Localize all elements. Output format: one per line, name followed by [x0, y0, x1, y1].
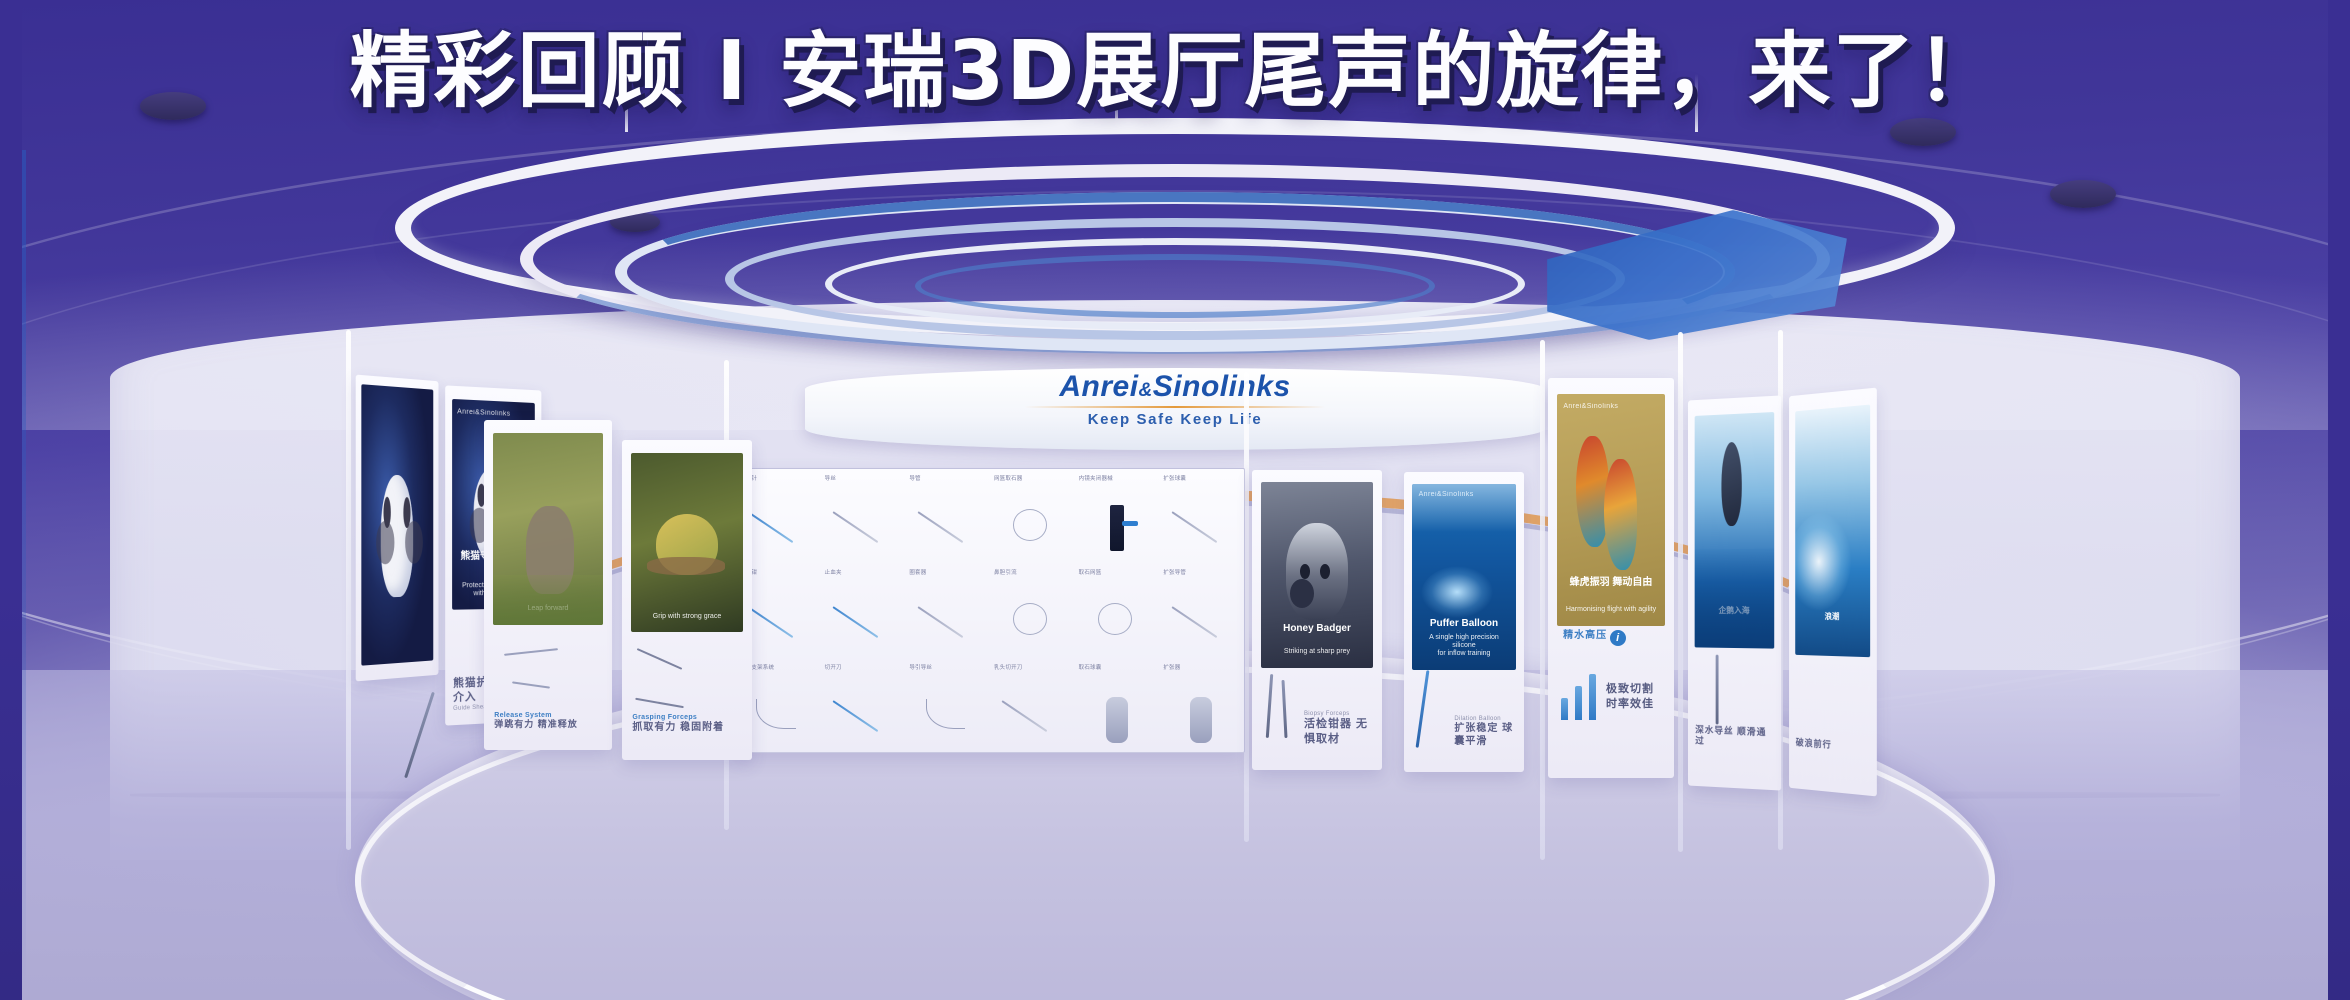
product-label: 扩张器	[1163, 663, 1240, 671]
poster-subtitle: A single high precision silicone for inf…	[1421, 634, 1508, 659]
brand-name-left: Anrei	[1059, 370, 1138, 403]
structural-post	[1678, 332, 1683, 852]
product-label: 止血夹	[825, 568, 902, 576]
product-grid-cell[interactable]: 网篮取石器	[990, 469, 1075, 563]
product-grid-cell[interactable]: 扩张球囊	[1159, 469, 1244, 563]
product-shape-icon	[744, 688, 810, 743]
brand-divider	[1025, 406, 1325, 408]
product-shape-icon	[998, 499, 1064, 554]
product-shape-icon	[914, 688, 980, 743]
product-shape-icon	[998, 688, 1064, 743]
poster-subtitle: Striking at sharp prey	[1270, 648, 1364, 656]
product-label: 鼻胆引流	[994, 568, 1071, 576]
poster-panel-penguin[interactable]: 企鹅入海 深水导丝 顺滑通过	[1688, 395, 1781, 790]
product-label: 乳头切开刀	[994, 663, 1071, 671]
poster-title: Puffer Balloon	[1421, 618, 1508, 630]
product-shape-icon	[829, 688, 895, 743]
poster-subtitle: Grip with strong grace	[640, 613, 734, 621]
product-grid-cell[interactable]: 导引导丝	[905, 658, 990, 752]
poster-panel-panda-side[interactable]	[356, 375, 439, 682]
product-grid-cell[interactable]: 圈套器	[905, 563, 990, 657]
product-label: 取石球囊	[1079, 663, 1156, 671]
poster-title: 浪潮	[1801, 612, 1864, 622]
product-shape-icon	[1168, 499, 1234, 554]
poster-title: 企鹅入海	[1701, 606, 1768, 616]
brand-sign: Anrei&Sinolinks Keep Safe Keep Life	[895, 372, 1455, 428]
brand-tagline: Keep Safe Keep Life	[895, 411, 1455, 428]
poster-caption-cn: 弹跳有力 精准释放	[494, 719, 602, 731]
poster-panel-wave[interactable]: 浪潮 破浪前行	[1789, 388, 1877, 797]
poster-tag: Anrei&Sinolinks	[1419, 491, 1474, 498]
poster-panel-ocean[interactable]: Anrei&Sinolinks Puffer Balloon A single …	[1404, 472, 1524, 772]
product-grid-cell[interactable]: 取石网篮	[1075, 563, 1160, 657]
poster-panel-badger[interactable]: Honey Badger Striking at sharp prey Biop…	[1252, 470, 1382, 770]
poster-art-bird: Anrei&Sinolinks 蜂虎振羽 舞动自由 Harmonising fl…	[1557, 394, 1665, 626]
product-label: 扩张导管	[1163, 568, 1240, 576]
ceiling-spotlight-icon	[2050, 180, 2116, 208]
poster-art-kangaroo: Leap forward	[493, 433, 603, 624]
poster-tag: Anrei&Sinolinks	[457, 408, 510, 417]
poster-art-penguin: 企鹅入海	[1694, 412, 1774, 649]
product-shape-icon	[1168, 688, 1234, 743]
bar-chart-caption: 极致切割 时率效佳	[1606, 682, 1654, 712]
poster-caption-cn: 破浪前行	[1796, 738, 1870, 755]
poster-panel-frog[interactable]: Grip with strong grace Grasping Forceps …	[622, 440, 752, 760]
product-grid-cell[interactable]: 内镜夹闭器械	[1075, 469, 1160, 563]
poster-title: Honey Badger	[1270, 623, 1364, 635]
product-shape-icon	[829, 594, 895, 649]
product-grid-cell[interactable]: 切开刀	[821, 658, 906, 752]
product-shape-icon	[998, 594, 1064, 649]
poster-caption-en: Grasping Forceps	[632, 714, 741, 721]
product-label: 内镜夹闭器械	[1079, 474, 1156, 482]
side-info-label: 精水高压i	[1563, 626, 1626, 646]
product-grid-cell[interactable]: 取石球囊	[1075, 658, 1160, 752]
poster-panel-bird[interactable]: Anrei&Sinolinks 蜂虎振羽 舞动自由 Harmonising fl…	[1548, 378, 1674, 778]
product-label: 取石网篮	[1079, 568, 1156, 576]
product-shape-icon	[744, 499, 810, 554]
poster-panel-kangaroo[interactable]: Leap forward Release System 弹跳有力 精准释放	[484, 420, 612, 750]
product-label: 导引导丝	[909, 663, 986, 671]
left-edge-border	[0, 0, 22, 1000]
product-grid-cell[interactable]: 扩张器	[1159, 658, 1244, 752]
mini-bar-chart	[1561, 674, 1596, 720]
poster-caption-cn: 活检钳器 无惧取材	[1304, 717, 1372, 746]
product-label: 圈套器	[909, 568, 986, 576]
product-label: 网篮取石器	[994, 474, 1071, 482]
page-title: 精彩回顾 I 安瑞3D展厅尾声的旋律，来了！	[0, 28, 2350, 117]
structural-post	[346, 330, 351, 850]
bar-chart-bar	[1575, 686, 1582, 720]
poster-title: 蜂虎振羽 舞动自由	[1565, 577, 1656, 589]
product-shape-icon	[1168, 594, 1234, 649]
product-shape-icon	[1083, 499, 1149, 554]
info-circle-icon: i	[1610, 630, 1626, 646]
poster-art-frog: Grip with strong grace	[631, 453, 743, 632]
product-shape-icon	[914, 594, 980, 649]
ceiling-ring-6	[915, 254, 1435, 318]
product-shape-icon	[744, 594, 810, 649]
bar-chart-bar	[1561, 698, 1568, 720]
product-label: 切开刀	[825, 663, 902, 671]
product-grid-board[interactable]: 穿刺针导丝导管网篮取石器内镜夹闭器械扩张球囊活检钳止血夹圈套器鼻胆引流取石网篮扩…	[735, 468, 1245, 753]
product-grid-cell[interactable]: 导管	[905, 469, 990, 563]
product-shape-icon	[1083, 594, 1149, 649]
product-label: 导管	[909, 474, 986, 482]
structural-post	[1540, 340, 1545, 860]
product-shape-icon	[914, 499, 980, 554]
product-grid-cell[interactable]: 鼻胆引流	[990, 563, 1075, 657]
poster-art-panda-side	[362, 384, 433, 665]
poster-caption-cn: 扩张稳定 球囊平滑	[1454, 722, 1514, 748]
product-grid-cell[interactable]: 乳头切开刀	[990, 658, 1075, 752]
product-shape-icon	[1083, 688, 1149, 743]
product-grid-cell[interactable]: 扩张导管	[1159, 563, 1244, 657]
poster-tag: Anrei&Sinolinks	[1563, 403, 1618, 410]
exhibition-hero-banner: Anrei&Sinolinks Keep Safe Keep Life Anre…	[0, 0, 2350, 1000]
product-shape-icon	[829, 499, 895, 554]
product-grid-cell[interactable]: 止血夹	[821, 563, 906, 657]
poster-art-badger: Honey Badger Striking at sharp prey	[1261, 482, 1373, 668]
poster-subtitle: Harmonising flight with agility	[1565, 606, 1656, 614]
right-edge-border	[2328, 0, 2350, 1000]
poster-subtitle: Leap forward	[502, 605, 594, 613]
poster-art-wave: 浪潮	[1795, 405, 1870, 658]
poster-caption-cn: 深水导丝 顺滑通过	[1695, 724, 1773, 751]
product-grid-cell[interactable]: 导丝	[821, 469, 906, 563]
poster-caption-cn: 抓取有力 稳固附着	[632, 721, 741, 734]
poster-caption-en: Release System	[494, 712, 602, 719]
product-label: 扩张球囊	[1163, 474, 1240, 482]
brand-name-right: Sinolinks	[1153, 370, 1291, 403]
brand-ampersand: &	[1139, 380, 1153, 401]
bar-chart-bar	[1589, 674, 1596, 720]
product-label: 导丝	[825, 474, 902, 482]
poster-art-ocean: Anrei&Sinolinks Puffer Balloon A single …	[1412, 484, 1515, 670]
